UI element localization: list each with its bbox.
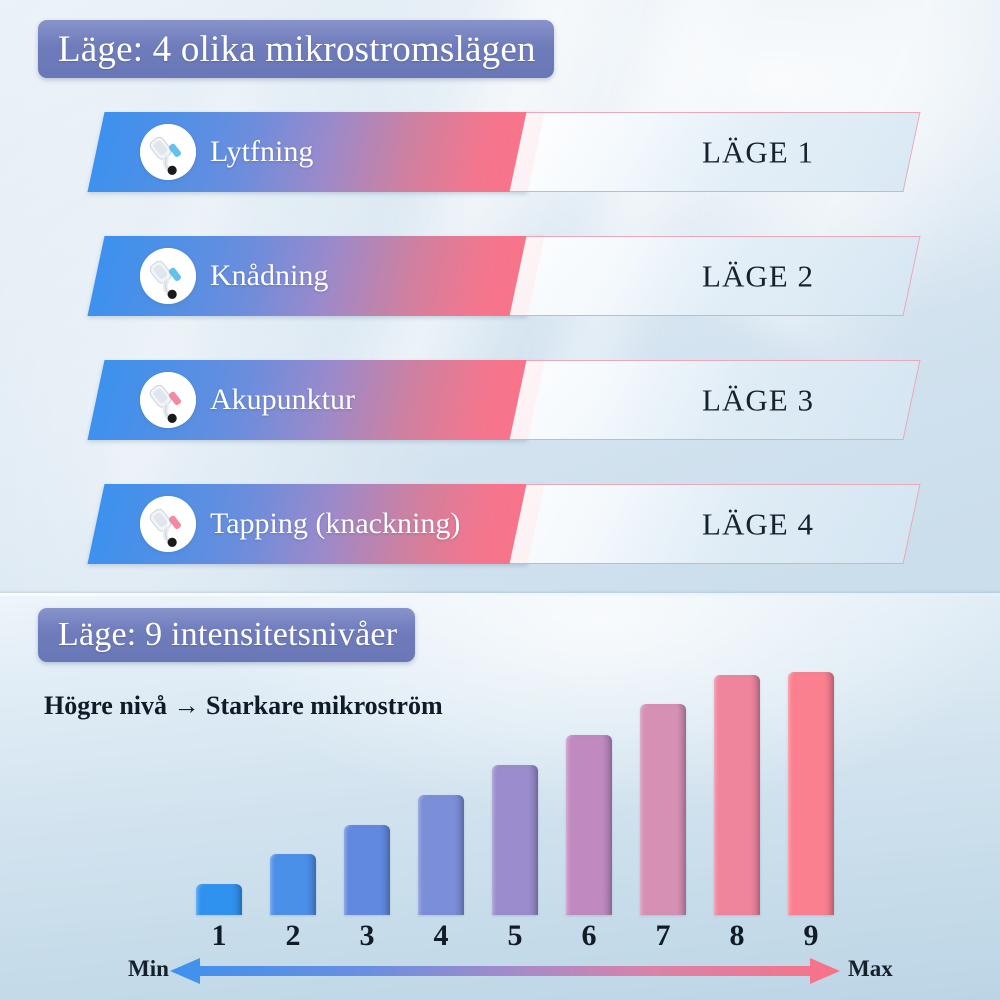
levels-section-title: Läge: 9 intensitetsnivåer bbox=[58, 618, 397, 652]
scale-max-label: Max bbox=[848, 957, 893, 980]
infographic-page: Läge: 4 olika mikrostromslägen bbox=[0, 0, 1000, 1000]
mode-label: Akupunktur bbox=[210, 385, 355, 415]
levels-section-title-badge: Läge: 9 intensitetsnivåer bbox=[38, 608, 415, 662]
chart-bar bbox=[270, 854, 316, 915]
mode-value: LÄGE 3 bbox=[598, 385, 918, 416]
mode-label: Knådning bbox=[210, 261, 328, 291]
mode-row[interactable]: Akupunktur LÄGE 3 bbox=[78, 360, 930, 440]
mode-row[interactable]: Lytfning LÄGE 1 bbox=[78, 112, 930, 192]
massage-device-icon bbox=[140, 248, 196, 304]
chart-bar bbox=[714, 675, 760, 915]
chart-bar bbox=[196, 884, 242, 915]
chart-bar-label: 8 bbox=[714, 921, 760, 951]
min-max-gradient-arrow bbox=[170, 955, 840, 987]
mode-row[interactable]: Knådning LÄGE 2 bbox=[78, 236, 930, 316]
modes-section: Läge: 4 olika mikrostromslägen bbox=[0, 0, 1000, 594]
levels-note: Högre nivå → Starkare mikroström bbox=[44, 691, 443, 721]
chart-bar-label: 9 bbox=[788, 921, 834, 951]
chart-bar-label: 2 bbox=[270, 921, 316, 951]
mode-label: Tapping (knackning) bbox=[210, 509, 460, 539]
chart-bar bbox=[418, 795, 464, 915]
massage-device-icon bbox=[140, 124, 196, 180]
chart-bar-label: 7 bbox=[640, 921, 686, 951]
mode-value: LÄGE 4 bbox=[598, 509, 918, 540]
modes-section-title-badge: Läge: 4 olika mikrostromslägen bbox=[38, 20, 554, 78]
chart-bar bbox=[344, 825, 390, 915]
chart-bar-label: 6 bbox=[566, 921, 612, 951]
mode-row[interactable]: Tapping (knackning) LÄGE 4 bbox=[78, 484, 930, 564]
mode-value: LÄGE 2 bbox=[598, 261, 918, 292]
chart-bar-label: 3 bbox=[344, 921, 390, 951]
chart-bar bbox=[788, 672, 834, 915]
massage-device-icon bbox=[140, 496, 196, 552]
mode-value: LÄGE 1 bbox=[598, 137, 918, 168]
mode-label: Lytfning bbox=[210, 137, 313, 167]
chart-bar bbox=[566, 735, 612, 915]
scale-min-label: Min bbox=[128, 957, 169, 980]
chart-bar-label: 4 bbox=[418, 921, 464, 951]
massage-device-icon bbox=[140, 372, 196, 428]
chart-bar bbox=[492, 765, 538, 915]
chart-bar bbox=[640, 704, 686, 915]
modes-section-title: Läge: 4 olika mikrostromslägen bbox=[58, 31, 536, 68]
chart-bar-label: 1 bbox=[196, 921, 242, 951]
chart-bar-label: 5 bbox=[492, 921, 538, 951]
